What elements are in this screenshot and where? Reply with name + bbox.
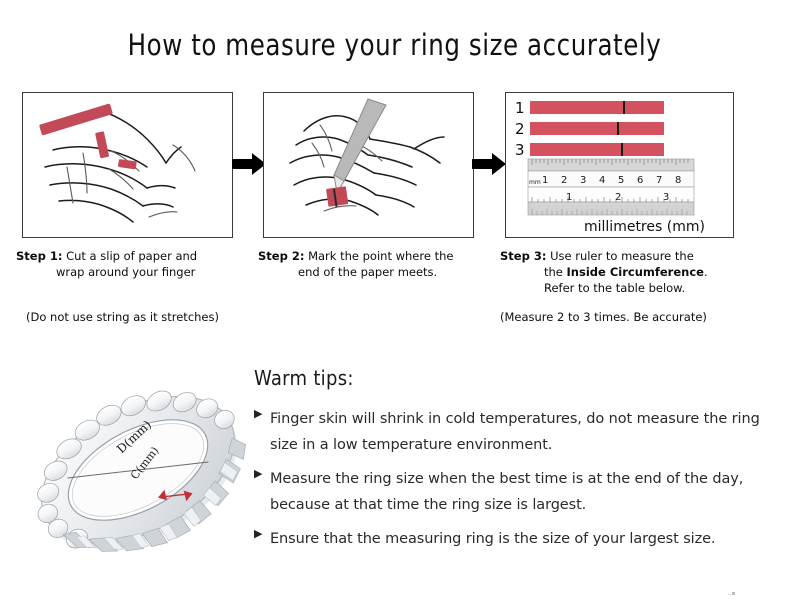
step-1-line-2: wrap around your finger — [16, 264, 248, 280]
step-3-line-3: Refer to the table below. — [500, 280, 762, 296]
hand-with-paper-strip-icon — [23, 93, 231, 236]
step-3-illustration-panel: 1 2 3 mm — [505, 92, 734, 238]
step-2-line-1: Mark the point where the — [308, 249, 453, 263]
strip-number-3: 3 — [515, 141, 525, 159]
step-3-caption: Step 3: Use ruler to measure the the Ins… — [500, 248, 762, 296]
tip-text-3: Ensure that the measuring ring is the si… — [270, 526, 774, 552]
paper-strip-on-finger-shape — [326, 186, 348, 207]
ruler-top-tick-1: 1 — [542, 175, 548, 186]
tip-text-2: Measure the ring size when the best time… — [270, 466, 774, 518]
step-2-label: Step 2: — [258, 249, 304, 263]
step-1-illustration-panel — [22, 92, 233, 238]
step-3-line-2-prefix: the — [544, 265, 567, 279]
step-2-illustration-panel — [263, 92, 474, 238]
step-3-note: (Measure 2 to 3 times. Be accurate) — [500, 310, 707, 324]
tip-text-1: Finger skin will shrink in cold temperat… — [270, 406, 774, 458]
ruler-shape: mm 1 2 3 4 5 6 7 8 1 2 3 — [528, 159, 694, 215]
step-3-label: Step 3: — [500, 249, 546, 263]
step-1-line-1: Cut a slip of paper and — [66, 249, 197, 263]
ruler-top-tick-5: 5 — [618, 175, 624, 186]
ring-diagram: D(mm) C(mm) — [20, 352, 256, 580]
step-3-line-1: Use ruler to measure the — [550, 249, 694, 263]
tip-item: ▶ Ensure that the measuring ring is the … — [254, 526, 774, 552]
ruler-top-tick-2: 2 — [561, 175, 567, 186]
strip-number-2: 2 — [515, 120, 525, 138]
tip-item: ▶ Finger skin will shrink in cold temper… — [254, 406, 774, 458]
step-3-line-2-suffix: . — [704, 265, 708, 279]
warm-tips-heading: Warm tips: — [254, 366, 774, 390]
step-3-inside-circumference: Inside Circumference — [567, 265, 704, 279]
bullet-triangle-icon: ▶ — [254, 526, 270, 540]
corner-artifact — [728, 592, 735, 597]
pen-shape — [334, 99, 386, 193]
step-1-caption: Step 1: Cut a slip of paper and wrap aro… — [16, 248, 248, 280]
bullet-triangle-icon: ▶ — [254, 466, 270, 480]
warm-tips-section: Warm tips: ▶ Finger skin will shrink in … — [254, 366, 774, 560]
ruler-with-strips-icon: 1 2 3 mm — [506, 93, 732, 236]
ruler-caption: millimetres (mm) — [584, 219, 705, 235]
ring-size-guide-infographic: { "title": "How to measure your ring siz… — [0, 0, 789, 606]
ruler-top-tick-4: 4 — [599, 175, 605, 186]
step-2-caption: Step 2: Mark the point where the end of … — [258, 248, 492, 280]
step-2-line-2: end of the paper meets. — [258, 264, 492, 280]
ruler-top-tick-3: 3 — [580, 175, 586, 186]
ruler-top-tick-6: 6 — [637, 175, 643, 186]
bullet-triangle-icon: ▶ — [254, 406, 270, 420]
arrow-step2-to-step3-icon — [472, 150, 508, 178]
ruler-bottom-tick-1: 1 — [566, 192, 572, 203]
steps-illustration-row: 1 2 3 mm — [0, 92, 789, 242]
step-captions-row: Step 1: Cut a slip of paper and wrap aro… — [0, 248, 789, 340]
step-1-note: (Do not use string as it stretches) — [26, 310, 219, 324]
page-title: How to measure your ring size accurately — [24, 28, 766, 62]
hand-with-pen-marking-icon — [264, 93, 472, 236]
tip-item: ▶ Measure the ring size when the best ti… — [254, 466, 774, 518]
step-1-label: Step 1: — [16, 249, 62, 263]
ruler-top-tick-8: 8 — [675, 175, 681, 186]
paper-strip-shape — [39, 103, 137, 169]
ruler-top-tick-7: 7 — [656, 175, 662, 186]
ruler-unit-mm: mm — [529, 179, 541, 186]
strip-number-1: 1 — [515, 99, 525, 117]
